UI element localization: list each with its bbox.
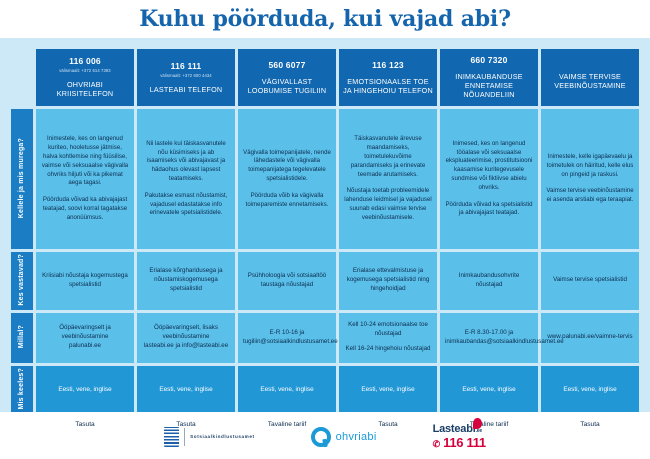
cell-language-5: Eesti, vene, inglise bbox=[541, 366, 639, 414]
table-header-row: 116 006 välismaalt: +372 614 7393 OHVRIA… bbox=[11, 49, 639, 106]
coat-of-arms-icon bbox=[164, 427, 179, 447]
logo-label-ohvriabi: ohvriabi bbox=[336, 431, 377, 443]
cell-when-0: Ööpäevaringselt ja veebinõustamine palun… bbox=[36, 313, 134, 363]
cell-language-2: Eesti, vene, inglise bbox=[238, 366, 336, 414]
service-name-0: OHVRIABI KRIISITELEFON bbox=[39, 80, 131, 98]
lasteabi-number-text: 116 111 bbox=[443, 435, 486, 450]
cell-text: Pöörduda võivad ka spetsialistid ja abiv… bbox=[445, 201, 533, 219]
cell-when-3: Kell 10-24 emotsionaalse toe nõustajad K… bbox=[339, 313, 437, 363]
cell-language-1: Eesti, vene, inglise bbox=[137, 366, 235, 414]
row-label-language: Mis keeles? bbox=[11, 366, 33, 414]
row-label-when: Millal? bbox=[11, 313, 33, 363]
row-language: Mis keeles? Eesti, vene, inglise Eesti, … bbox=[11, 366, 639, 414]
service-abroad-1: välismaalt: +372 600 4434 bbox=[140, 73, 232, 78]
cell-link[interactable]: palunabi.ee bbox=[41, 342, 129, 351]
row-label-who-what: Kellele ja mis murega? bbox=[11, 109, 33, 249]
cell-when-5: www.palunabi.ee/vaimne-tervis bbox=[541, 313, 639, 363]
cell-text: Pakutakse esmast nõustamist, vajadusel e… bbox=[142, 192, 230, 218]
cell-who-what-2: Vägivalla toimepanijatele, nende lähedas… bbox=[238, 109, 336, 249]
logo-sotsiaalkindlustusamet: Sotsiaalkindlustusamet bbox=[164, 427, 255, 447]
row-when: Millal? Ööpäevaringselt ja veebinõustami… bbox=[11, 313, 639, 363]
lasteabi-word: Lasteabi bbox=[433, 423, 476, 435]
cell-who-answers-0: Kriisiabi nõustaja kogemustega spetsiali… bbox=[36, 252, 134, 310]
cell-text: Pöörduda võivad ka abivajajast teatajad,… bbox=[41, 196, 129, 222]
cell-language-4: Eesti, vene, inglise bbox=[440, 366, 538, 414]
infographic-page: Kuhu pöörduda, kui vajad abi? 116 006 vä… bbox=[0, 0, 650, 459]
help-services-table: 116 006 välismaalt: +372 614 7393 OHVRIA… bbox=[8, 46, 642, 437]
service-abroad-0: välismaalt: +372 614 7393 bbox=[39, 68, 131, 73]
service-header-4: 660 7320 INIMKAUBANDUSE ENNETAMISE NÕUAN… bbox=[440, 49, 538, 106]
service-header-5: VAIMSE TERVISE VEEBINÕUSTAMINE bbox=[541, 49, 639, 106]
cell-link[interactable]: lasteabi.ee ja info@lasteabi.ee bbox=[142, 342, 230, 351]
cell-who-answers-2: Psühholoogia või sotsiaaltöö taustaga nõ… bbox=[238, 252, 336, 310]
phone-icon: ✆ bbox=[433, 439, 440, 449]
cell-who-what-1: Nii lastele kui täiskasvanutele nõu küsi… bbox=[137, 109, 235, 249]
cell-when-1: Ööpäevaringselt, lisaks veebinõustamine … bbox=[137, 313, 235, 363]
service-name-5: VAIMSE TERVISE VEEBINÕUSTAMINE bbox=[544, 72, 636, 90]
corner-spacer bbox=[11, 49, 33, 106]
service-name-3: EMOTSIONAALSE TOE JA HINGEHOIU TELEFON bbox=[342, 77, 434, 95]
cell-text: Nõustaja toetab probleemidele lahenduse … bbox=[344, 187, 432, 222]
cell-text: Ööpäevaringselt, lisaks veebinõustamine bbox=[142, 324, 230, 342]
footer-logos: Sotsiaalkindlustusamet ohvriabi Lasteabi… bbox=[0, 412, 650, 459]
logo-divider bbox=[184, 428, 185, 446]
service-header-1: 116 111 välismaalt: +372 600 4434 LASTEA… bbox=[137, 49, 235, 106]
cell-text: E-R 8.30-17.00 ja bbox=[445, 329, 533, 338]
cell-text: Kell 10-24 emotsionaalse toe nõustajad bbox=[344, 321, 432, 339]
cell-who-what-4: Inimesed, kes on langenud tööalase või s… bbox=[440, 109, 538, 249]
row-label-who-answers: Kes vastavad? bbox=[11, 252, 33, 310]
row-who-answers: Kes vastavad? Kriisiabi nõustaja kogemus… bbox=[11, 252, 639, 310]
cell-text: Vaimse tervise veebinõustamine ei asenda… bbox=[546, 187, 634, 205]
cell-text: Täiskasvanutele ärevuse maandamiseks, to… bbox=[344, 135, 432, 179]
service-header-2: 560 6077 VÄGIVALLAST LOOBUMISE TUGILIIN bbox=[238, 49, 336, 106]
cell-text: Nii lastele kui täiskasvanutele nõu küsi… bbox=[142, 140, 230, 184]
cell-when-4: E-R 8.30-17.00 ja inimkaubandas@sotsiaal… bbox=[440, 313, 538, 363]
cell-text: E-R 10-16 ja bbox=[243, 329, 331, 338]
service-header-3: 116 123 EMOTSIONAALSE TOE JA HINGEHOIU T… bbox=[339, 49, 437, 106]
logo-lasteabi-number: ✆ 116 111 bbox=[433, 436, 486, 449]
service-phone-0: 116 006 bbox=[39, 56, 131, 66]
service-name-2: VÄGIVALLAST LOOBUMISE TUGILIIN bbox=[241, 77, 333, 95]
title-bar: Kuhu pöörduda, kui vajad abi? bbox=[0, 0, 650, 38]
cell-who-answers-5: Vaimse tervise spetsialistid bbox=[541, 252, 639, 310]
logo-label-ska: Sotsiaalkindlustusamet bbox=[190, 434, 255, 439]
cell-text: Inimesed, kes on langenud tööalase või s… bbox=[445, 140, 533, 193]
speech-bubble-icon bbox=[473, 418, 482, 429]
cell-text: Kell 16-24 hingehoiu nõustajad bbox=[344, 345, 432, 354]
logo-lasteabi: Lasteabi.ee ✆ 116 111 bbox=[433, 424, 486, 449]
cell-who-answers-3: Erialase ettevalmistuse ja kogemusega sp… bbox=[339, 252, 437, 310]
service-phone-4: 660 7320 bbox=[443, 55, 535, 65]
page-title: Kuhu pöörduda, kui vajad abi? bbox=[139, 6, 511, 32]
cell-who-what-3: Täiskasvanutele ärevuse maandamiseks, to… bbox=[339, 109, 437, 249]
cell-link[interactable]: inimkaubandas@sotsiaalkindlustusamet.ee bbox=[445, 338, 533, 347]
service-phone-3: 116 123 bbox=[342, 60, 434, 70]
cell-text: Inimestele, kes on langenud kuriteo, hoo… bbox=[41, 135, 129, 188]
help-services-table-wrap: 116 006 välismaalt: +372 614 7393 OHVRIA… bbox=[0, 38, 650, 412]
cell-text: Vägivalla toimepanijatele, nende lähedas… bbox=[243, 149, 331, 184]
cell-text: Inimestele, kelle igapäevaelu ja toimetu… bbox=[546, 153, 634, 179]
service-header-0: 116 006 välismaalt: +372 614 7393 OHVRIA… bbox=[36, 49, 134, 106]
row-who-what: Kellele ja mis murega? Inimestele, kes o… bbox=[11, 109, 639, 249]
service-phone-1: 116 111 bbox=[140, 61, 232, 71]
cell-link[interactable]: tugiliin@sotsiaalkindlustusamet.ee bbox=[243, 338, 331, 347]
cell-language-3: Eesti, vene, inglise bbox=[339, 366, 437, 414]
cell-who-what-0: Inimestele, kes on langenud kuriteo, hoo… bbox=[36, 109, 134, 249]
service-name-4: INIMKAUBANDUSE ENNETAMISE NÕUANDELIIN bbox=[443, 72, 535, 99]
cell-text: Ööpäevaringselt ja veebinõustamine bbox=[41, 324, 129, 342]
service-name-1: LASTEABI TELEFON bbox=[140, 85, 232, 94]
cell-who-answers-4: Inimkaubandusohvrite nõustajad bbox=[440, 252, 538, 310]
cell-who-what-5: Inimestele, kelle igapäevaelu ja toimetu… bbox=[541, 109, 639, 249]
cell-when-2: E-R 10-16 ja tugiliin@sotsiaalkindlustus… bbox=[238, 313, 336, 363]
cell-link[interactable]: www.palunabi.ee/vaimne-tervis bbox=[546, 333, 634, 342]
service-phone-2: 560 6077 bbox=[241, 60, 333, 70]
cell-language-0: Eesti, vene, inglise bbox=[36, 366, 134, 414]
cell-text: Pöörduda võib ka vägivalla toimeparemist… bbox=[243, 192, 331, 210]
ohvriabi-circle-icon bbox=[311, 427, 331, 447]
cell-who-answers-1: Erialase kõrgharidusega ja nõustamiskoge… bbox=[137, 252, 235, 310]
logo-ohvriabi: ohvriabi bbox=[311, 427, 377, 447]
